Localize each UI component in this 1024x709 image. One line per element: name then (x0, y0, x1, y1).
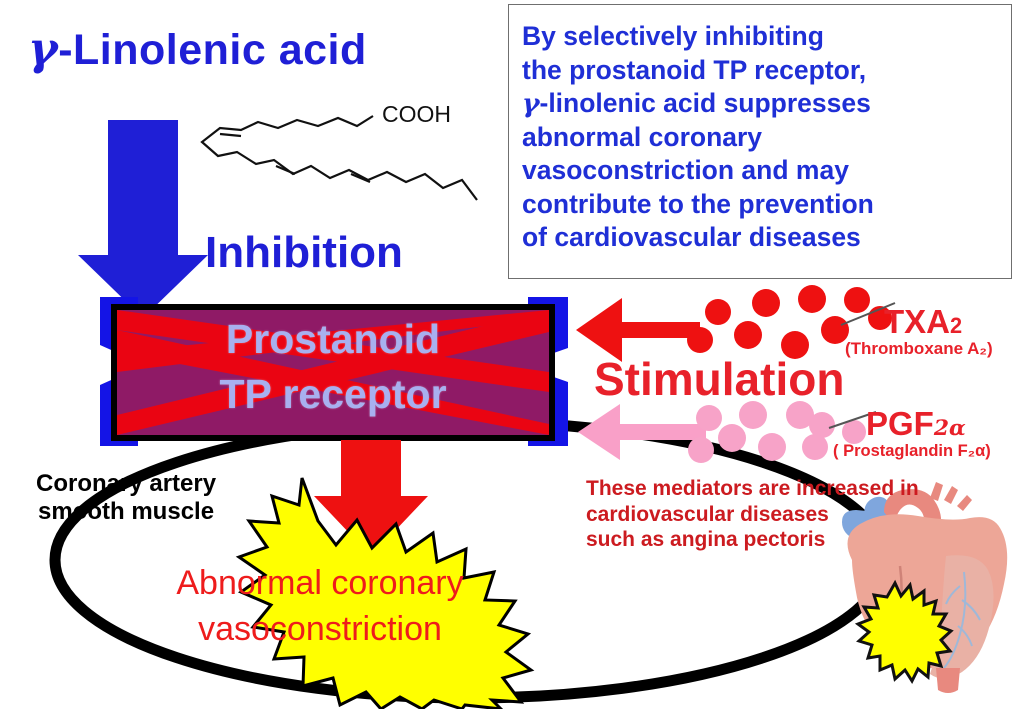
summary-callout-text: By selectively inhibitingthe prostanoid … (522, 20, 1008, 255)
page-title: γ-Linolenic acid (28, 22, 367, 75)
receptor-label-line2: TP receptor (112, 367, 554, 422)
mediators-note: These mediators are increased in cardiov… (586, 476, 919, 553)
txa2-name: TXA (884, 303, 950, 340)
gamma-symbol: γ (28, 22, 58, 75)
vasoconstriction-line1: Abnormal coronary (120, 560, 520, 606)
summary-line: By selectively inhibiting (522, 20, 1008, 54)
vasoconstriction-line2: vasoconstriction (120, 606, 520, 652)
page-title-rest: -Linolenic acid (58, 26, 367, 74)
summary-line: of cardiovascular diseases (522, 221, 1008, 255)
gamma-symbol: γ (522, 88, 540, 119)
receptor-label-line1: Prostanoid (112, 312, 554, 367)
summary-line: contribute to the prevention (522, 188, 1008, 222)
inhibition-arrow (78, 120, 208, 318)
pgf2a-label: PGF2α (866, 405, 966, 443)
inhibition-label: Inhibition (205, 228, 403, 278)
summary-line: vasoconstriction and may (522, 154, 1008, 188)
gamma-linolenic-acid-structure: COOH (196, 104, 481, 204)
summary-line: γ-linolenic acid suppresses (522, 87, 1008, 121)
pgf2a-full-name: ( Prostaglandin F₂α) (833, 442, 991, 461)
pgf2a-stimulation-arrow (578, 404, 706, 460)
pgf2a-subscript: 2α (934, 416, 966, 441)
txa2-full-name: (Thromboxane A₂) (845, 339, 993, 359)
summary-line: abnormal coronary (522, 121, 1008, 155)
figure-canvas: COOH γ-Linolenic acid By selectively inh… (0, 0, 1024, 709)
receptor-label: Prostanoid TP receptor (112, 312, 554, 422)
stimulation-label: Stimulation (594, 352, 844, 406)
vasoconstriction-label: Abnormal coronary vasoconstriction (120, 560, 520, 652)
txa2-subscript: 2 (950, 313, 962, 338)
cooh-label: COOH (382, 101, 451, 127)
summary-line: the prostanoid TP receptor, (522, 54, 1008, 88)
coronary-artery-label: Coronary artery smooth muscle (36, 470, 216, 526)
pgf2a-name: PGF (866, 405, 934, 442)
txa2-label: TXA2 (884, 303, 962, 341)
